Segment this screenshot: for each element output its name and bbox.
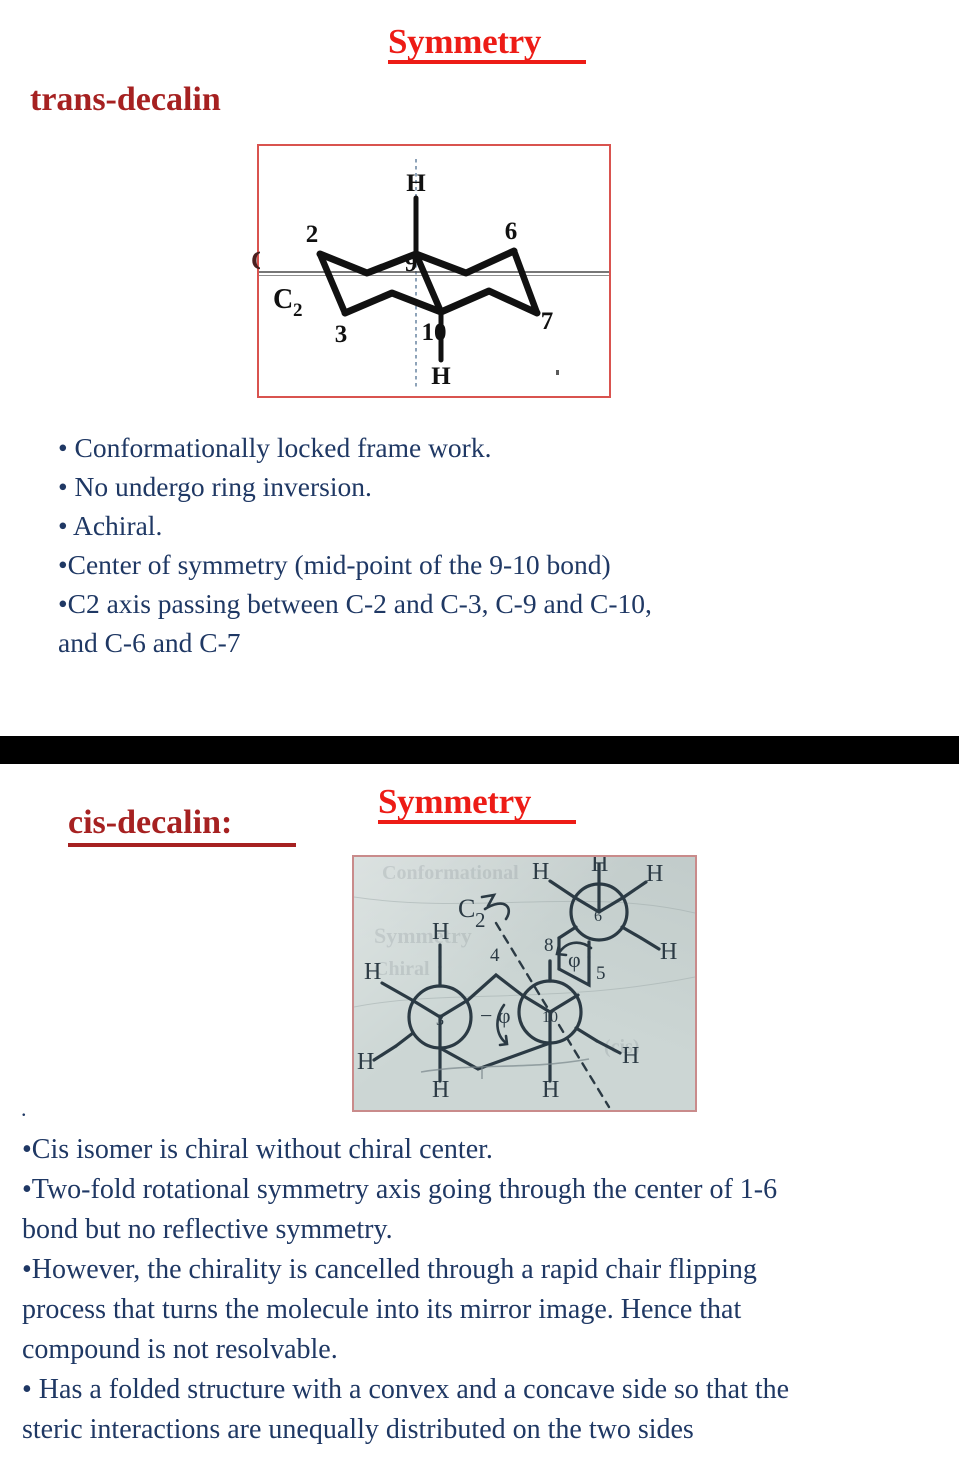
- svg-text:C: C: [273, 284, 293, 315]
- bond-c6-h-upper-left: [550, 881, 574, 897]
- heading-trans-decalin-text: trans-decalin: [30, 81, 221, 118]
- bond-c3-h-upper-left: [382, 983, 412, 1000]
- heading-underline: [68, 843, 296, 847]
- svg-text:H: H: [660, 939, 677, 965]
- bullet-item: • Has a folded structure with a convex a…: [22, 1370, 947, 1410]
- stray-period: .: [21, 1098, 27, 1120]
- heading-cis-decalin: cis-decalin:: [68, 806, 296, 847]
- label-c9: 9: [405, 250, 418, 277]
- label-c4: 4: [490, 945, 500, 966]
- label-h-top: H: [406, 170, 426, 197]
- svg-text:H: H: [532, 859, 549, 885]
- bullet-item: and C-6 and C-7: [58, 623, 918, 662]
- label-c5: 5: [596, 963, 606, 984]
- svg-text:Symmetry: Symmetry: [374, 923, 472, 948]
- label-c10: 10: [542, 1009, 558, 1026]
- bullet-item: • No undergo ring inversion.: [58, 467, 918, 506]
- slide-title-text: Symmetry: [388, 22, 541, 61]
- cis-decalin-bullet-list: •Cis isomer is chiral without chiral cen…: [22, 1130, 947, 1450]
- svg-text:H: H: [622, 1043, 639, 1069]
- svg-text:H: H: [646, 861, 663, 887]
- label-c6: 6: [505, 218, 518, 245]
- svg-text:Conformational: Conformational: [382, 862, 519, 884]
- label-c10: 10: [422, 319, 447, 346]
- svg-text:H: H: [357, 1049, 374, 1075]
- svg-text:H: H: [364, 959, 381, 985]
- trans-decalin-bullet-list: • Conformationally locked frame work. • …: [58, 428, 918, 662]
- label-h-bottom: H: [431, 363, 451, 390]
- figure-speck: [556, 370, 559, 375]
- bullet-item: •However, the chirality is cancelled thr…: [22, 1250, 947, 1290]
- bullet-item: compound is not resolvable.: [22, 1330, 947, 1370]
- label-phi: φ: [568, 947, 581, 972]
- label-c2: 2: [306, 221, 319, 248]
- label-c2-axis: C 2: [273, 284, 303, 321]
- svg-text:2: 2: [293, 300, 303, 321]
- svg-text:H: H: [591, 857, 608, 877]
- label-c3: 3: [335, 321, 348, 348]
- label-c3: 3: [436, 1012, 444, 1029]
- slide-divider-bar: [0, 736, 959, 764]
- slide-trans-decalin: Symmetry trans-decalin: [0, 0, 959, 736]
- label-c6: 6: [594, 908, 602, 925]
- slide-title-text: Symmetry: [378, 782, 531, 821]
- slide-title-symmetry: Symmetry: [388, 24, 586, 64]
- svg-text:H: H: [432, 1077, 449, 1103]
- svg-text:H: H: [432, 919, 449, 945]
- bullet-item: • Conformationally locked frame work.: [58, 428, 918, 467]
- label-c2-axis: C: [458, 894, 475, 923]
- bullet-item: •Cis isomer is chiral without chiral cen…: [22, 1130, 947, 1170]
- label-c2-axis-sub: 2: [475, 908, 486, 932]
- bullet-item: •Two-fold rotational symmetry axis going…: [22, 1170, 947, 1210]
- label-c7: 7: [541, 308, 554, 335]
- bullet-item: •C2 axis passing between C-2 and C-3, C-…: [58, 584, 918, 623]
- slide-title-symmetry-2: Symmetry: [378, 784, 576, 824]
- svg-text:Chiral: Chiral: [374, 958, 430, 980]
- clipped-edge-glyph: C: [251, 250, 260, 272]
- svg-text:H: H: [542, 1077, 559, 1103]
- bullet-item: bond but no reflective symmetry.: [22, 1210, 947, 1250]
- bullet-item: process that turns the molecule into its…: [22, 1290, 947, 1330]
- bullet-item: • Achiral.: [58, 506, 918, 545]
- heading-trans-decalin: trans-decalin: [30, 83, 221, 117]
- trans-decalin-figure: H H 2 6 9 3 10 7 C 2: [257, 144, 611, 398]
- bond-c6-h-right: [641, 938, 659, 949]
- cis-decalin-figure: Conformational Symmetry Chiral (cis): [352, 855, 697, 1112]
- label-minus-phi: − φ: [480, 1003, 511, 1028]
- label-c8: 8: [544, 935, 554, 956]
- heading-cis-decalin-text: cis-decalin:: [68, 804, 232, 841]
- bond-c3-h-lower-left: [374, 1046, 396, 1060]
- bond-c6-h-upper-right: [624, 882, 646, 897]
- bullet-item: •Center of symmetry (mid-point of the 9-…: [58, 545, 918, 584]
- bullet-item: steric interactions are unequally distri…: [22, 1410, 947, 1450]
